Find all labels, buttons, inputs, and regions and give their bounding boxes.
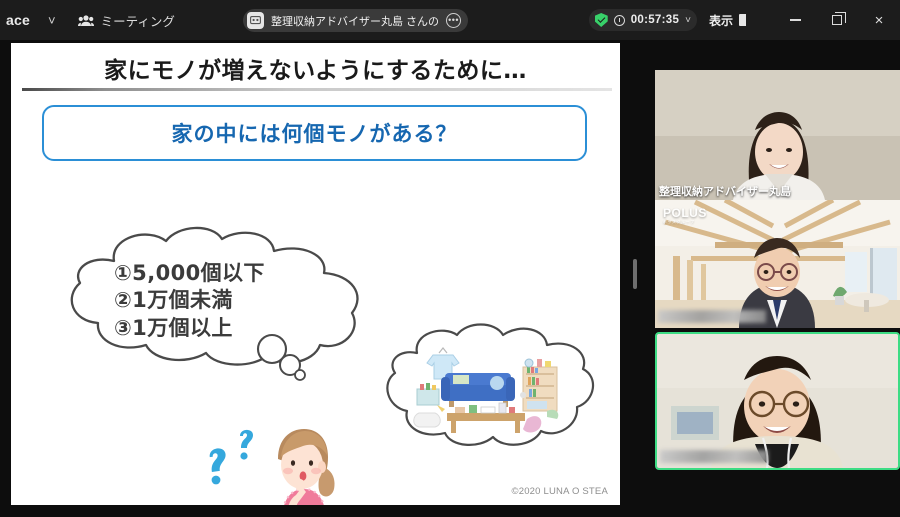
video-feed-3 <box>657 334 898 468</box>
polus-logo: POLUS ポラスグループ <box>663 206 707 225</box>
bookshelf-icon <box>523 359 557 411</box>
minimize-button[interactable] <box>774 0 816 40</box>
topbar-right-group: 00:57:35 ˅ 表示 × <box>589 0 900 40</box>
meeting-top-bar: ace ˅ ミーティング <box>0 0 900 40</box>
slide-question-box: 家の中には何個モノがある？ <box>42 105 587 161</box>
slide-options-list: ①5,000個以下 ②1万個未満 ③1万個以上 <box>114 260 265 342</box>
meeting-timer-pill[interactable]: 00:57:35 ˅ <box>589 9 697 31</box>
participant-video-panel: 整理収納アドバイザー丸島 <box>655 70 900 470</box>
meeting-timer-value: 00:57:35 <box>631 14 679 26</box>
restore-button[interactable] <box>816 0 858 40</box>
participant-name-label-1: 整理収納アドバイザー丸島 <box>655 182 795 200</box>
minimize-icon <box>790 19 801 21</box>
video-tile-3[interactable] <box>655 332 900 470</box>
chevron-down-icon[interactable]: ˅ <box>48 13 56 28</box>
resize-grip-icon <box>633 259 637 289</box>
title-divider-rule <box>22 88 612 91</box>
video-tile-1[interactable]: 整理収納アドバイザー丸島 <box>655 70 900 200</box>
thinking-woman-illustration <box>266 425 342 505</box>
slide-option-1: ①5,000個以下 <box>114 260 265 287</box>
view-menu-button[interactable]: 表示 <box>709 12 752 29</box>
close-icon: × <box>875 12 884 29</box>
restore-icon <box>832 15 842 25</box>
coffee-table-icon <box>447 403 525 433</box>
cluttered-room-illustration <box>411 339 573 437</box>
screen-share-icon <box>247 12 264 29</box>
slide-question-text: 家の中には何個モノがある？ <box>172 118 458 148</box>
participant-name-label-2 <box>658 310 766 323</box>
video-tile-2[interactable]: POLUS ポラスグループ <box>655 200 900 328</box>
toy-box-icon <box>417 383 445 412</box>
scattered-clothes-icon <box>523 416 541 432</box>
people-icon <box>78 14 94 27</box>
app-name-label: ace <box>6 12 30 28</box>
meeting-label: ミーティング <box>101 11 175 30</box>
shared-screen-slide[interactable]: 家にモノが増えないようにするために… 家の中には何個モノがある？ ①5,000個… <box>11 43 620 505</box>
thought-bubble-left-tail <box>254 333 314 381</box>
slide-title: 家にモノが増えないようにするために… <box>11 51 620 85</box>
teams-meeting-window: ace ˅ ミーティング <box>0 0 900 517</box>
question-marks-icon <box>196 428 276 498</box>
panel-resize-handle[interactable] <box>628 43 642 505</box>
slide-option-2: ②1万個未満 <box>114 287 265 314</box>
slide-option-3: ③1万個以上 <box>114 315 265 342</box>
sofa-icon <box>441 373 515 407</box>
share-chip-title: 整理収納アドバイザー丸島 さんの <box>271 13 439 29</box>
polus-logo-sub: ポラスグループ <box>663 220 707 225</box>
close-button[interactable]: × <box>858 0 900 40</box>
video-feed-1 <box>655 70 900 200</box>
topbar-left-group: ace ˅ ミーティング <box>0 0 175 40</box>
view-label: 表示 <box>709 12 733 29</box>
layout-grid-icon <box>739 14 752 26</box>
more-options-icon[interactable]: ••• <box>446 13 461 28</box>
chevron-down-icon[interactable]: ˅ <box>685 15 691 26</box>
screen-share-chip[interactable]: 整理収納アドバイザー丸島 さんの ••• <box>243 9 468 32</box>
slide-copyright: ©2020 LUNA O STEA <box>512 486 608 497</box>
meeting-menu-item[interactable]: ミーティング <box>78 11 175 30</box>
clock-icon <box>614 15 625 26</box>
participant-name-label-3 <box>660 450 768 463</box>
shield-check-icon <box>595 13 608 27</box>
laundry-bag-icon <box>414 413 441 427</box>
